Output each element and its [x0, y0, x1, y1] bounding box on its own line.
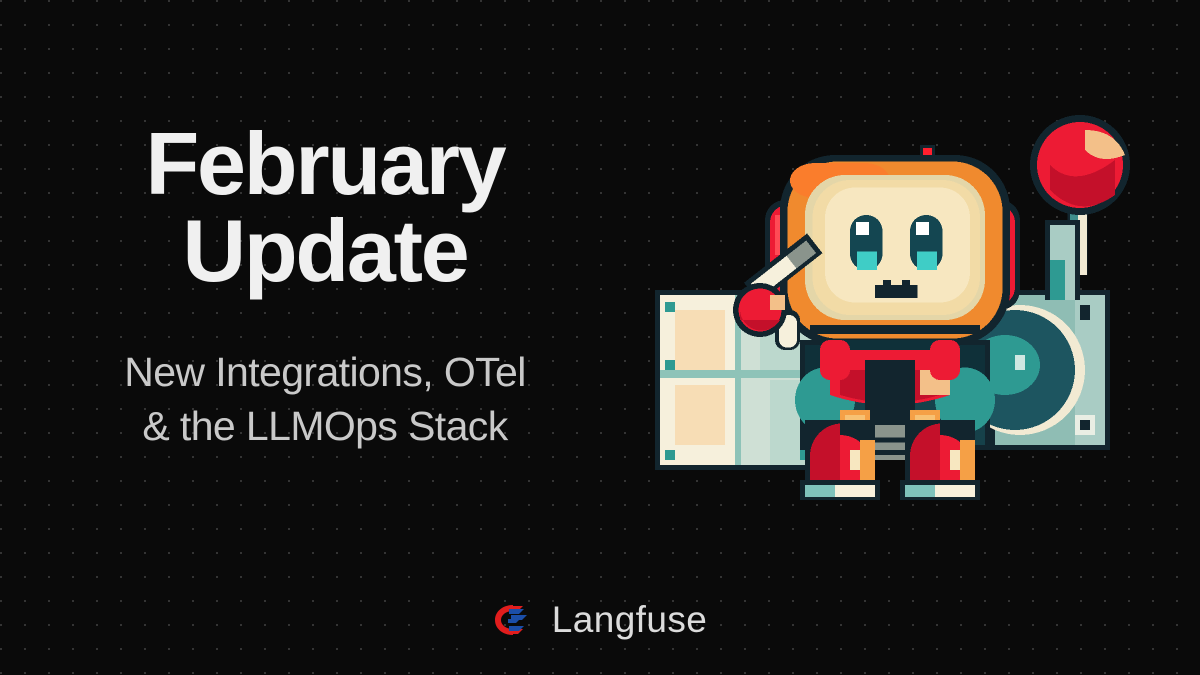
langfuse-logo-icon [493, 603, 535, 637]
pixel-robot-illustration [640, 110, 1140, 520]
page-subtitle: New Integrations, OTel & the LLMOps Stac… [30, 346, 620, 453]
page-title: February Update [30, 120, 620, 294]
banner: February Update New Integrations, OTel &… [0, 0, 1200, 675]
brand-name: Langfuse [552, 599, 707, 641]
robot-raised-arm [1045, 220, 1080, 300]
mascot-illustration [640, 110, 1140, 520]
text-column: February Update New Integrations, OTel &… [30, 120, 620, 453]
brand-lockup: Langfuse [0, 599, 1200, 641]
